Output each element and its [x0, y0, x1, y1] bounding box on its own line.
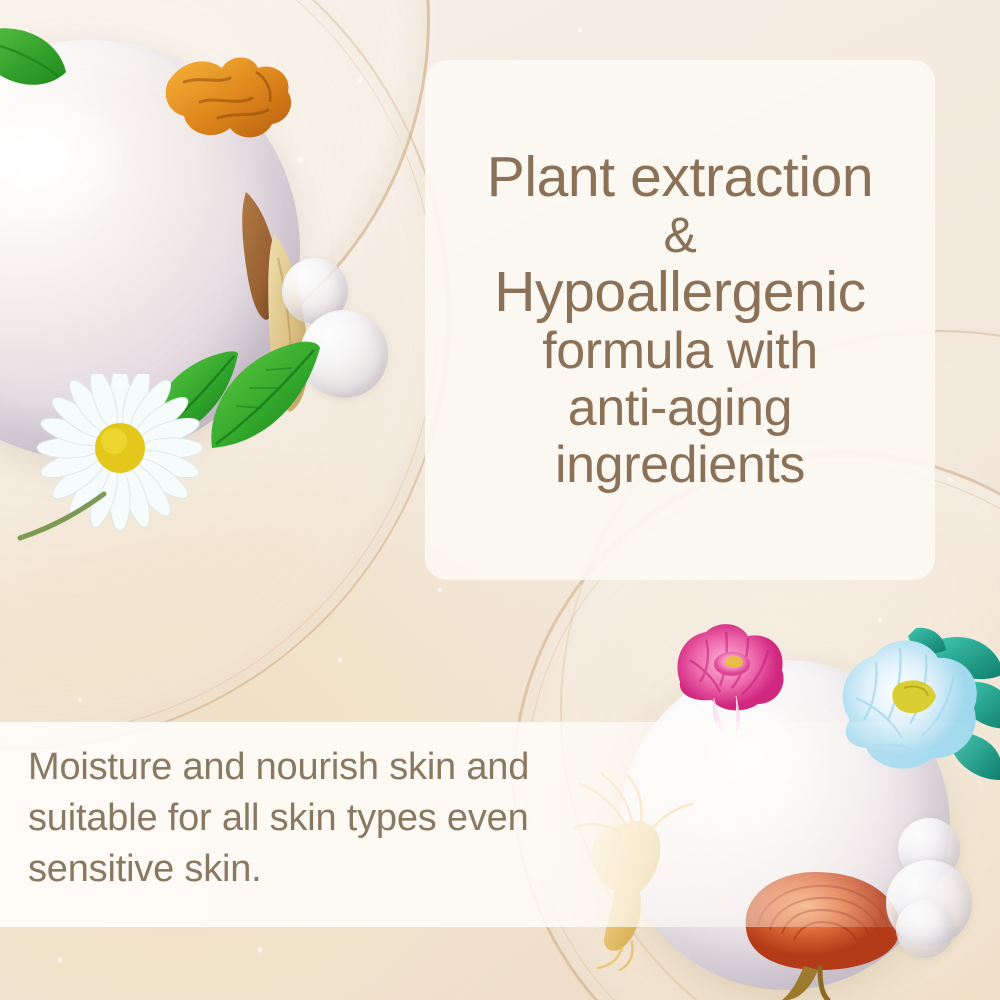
bubble-small-top-left — [282, 258, 348, 324]
caption-line-3: sensitive skin. — [28, 844, 628, 895]
left-large-glass-bowl-inner-rim — [0, 0, 438, 738]
green-leaf-small-icon — [142, 348, 252, 453]
headline-line-3: Hypoallergenic — [494, 263, 865, 321]
headline-line-2: & — [664, 210, 697, 261]
headline-line-4: formula with — [542, 325, 818, 378]
left-large-glass-bowl — [0, 0, 450, 750]
green-leaf-top-icon — [0, 14, 104, 144]
dried-turmeric-root-icon — [160, 48, 300, 158]
top-left-glass-bowl — [0, 0, 430, 400]
headline-line-6: ingredients — [555, 439, 805, 492]
headline-card: Plant extraction & Hypoallergenic formul… — [425, 60, 935, 580]
chamomile-daisy-flower-icon — [16, 374, 216, 554]
caption-line-1: Moisture and nourish skin and — [28, 742, 628, 793]
pink-peony-flower-icon — [662, 612, 812, 732]
green-leaf-large-icon — [196, 336, 331, 461]
caption-text: Moisture and nourish skin and suitable f… — [28, 742, 628, 895]
headline-line-5: anti-aging — [568, 382, 792, 435]
bubble-large-top-left — [300, 310, 388, 398]
licorice-root-stick-icon — [232, 186, 322, 346]
caption-line-2: suitable for all skin types even — [28, 793, 628, 844]
headline-line-1: Plant extraction — [487, 148, 873, 206]
top-left-gel-sphere — [0, 40, 300, 460]
ginger-root-slice-icon — [258, 230, 348, 430]
promo-banner: Plant extraction & Hypoallergenic formul… — [0, 0, 1000, 1000]
